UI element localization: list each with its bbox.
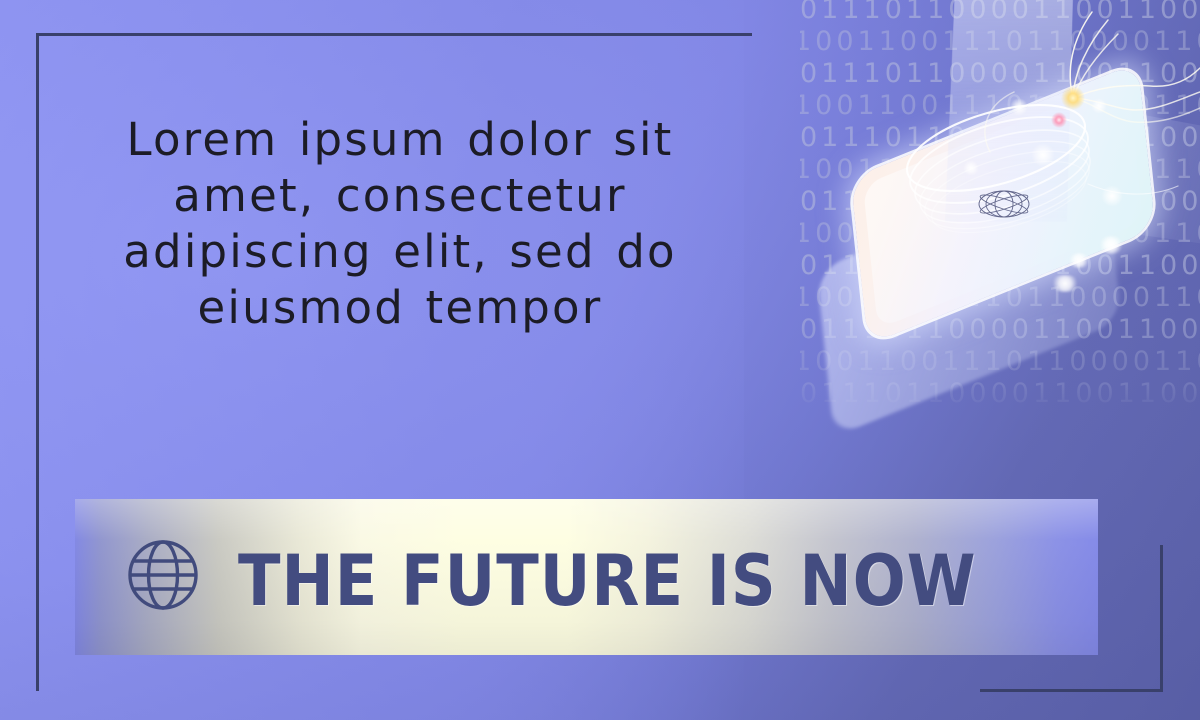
banner-tagline: THE FUTURE IS NOW [238,530,1070,633]
smartphone-hologram-illustration [800,0,1200,400]
page-title-line-4: eiusmod tempor [72,280,728,336]
globe-icon [126,538,200,612]
page-title-line-2: amet, consectetur [72,168,728,224]
page-title-line-3: adipiscing elit, sed do [72,224,728,280]
page-title: Lorem ipsum dolor sitamet, consecteturad… [72,112,728,336]
page-title-line-1: Lorem ipsum dolor sit [72,112,728,168]
glow-sparks [800,0,1200,400]
frame-top-line [36,33,752,36]
poster-canvas: 0111011000011001100110011010011001110110… [0,0,1200,720]
frame-bottom-line [980,689,1163,692]
frame-right-line [1160,545,1163,692]
frame-left-line [36,33,39,691]
